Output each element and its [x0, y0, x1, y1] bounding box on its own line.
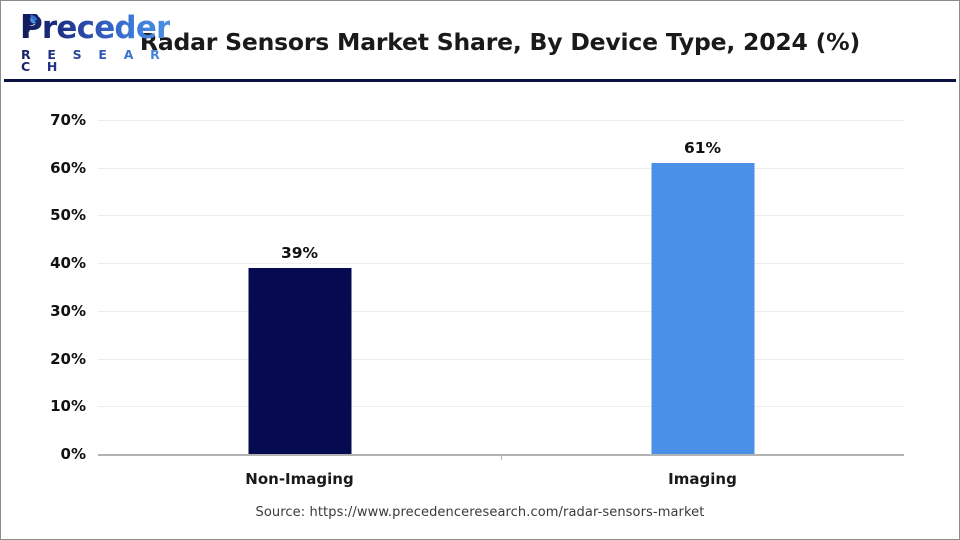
- category-label-non-imaging: Non-Imaging: [245, 470, 353, 488]
- bar-series: 39% Non-Imaging 61% Imaging: [98, 120, 904, 454]
- ytick-label-0: 0%: [61, 445, 86, 463]
- category-label-imaging: Imaging: [668, 470, 737, 488]
- bar-non-imaging[interactable]: 39%: [248, 268, 351, 454]
- ytick-label-50: 50%: [50, 206, 86, 224]
- plot-region: 70% 60% 50% 40% 30% 20% 10%: [98, 120, 904, 454]
- source-caption: Source: https://www.precedenceresearch.c…: [4, 505, 956, 520]
- bar-value-non-imaging: 39%: [281, 244, 318, 262]
- ytick-label-70: 70%: [50, 111, 86, 129]
- ytick-label-40: 40%: [50, 254, 86, 272]
- inner-frame: Precedence R E S E A R C H Radar Sensors…: [4, 4, 956, 536]
- axis-baseline: 0%: [98, 454, 904, 456]
- brand-tagline: R E S E A R C H: [18, 49, 170, 74]
- ytick-label-30: 30%: [50, 302, 86, 320]
- brand-name: Precedence: [18, 13, 170, 44]
- ytick-label-10: 10%: [50, 397, 86, 415]
- brand-logo: Precedence R E S E A R C H: [18, 18, 170, 68]
- infographic-card: Precedence R E S E A R C H Radar Sensors…: [0, 0, 960, 540]
- chart-area: 70% 60% 50% 40% 30% 20% 10%: [4, 82, 956, 536]
- bar-imaging[interactable]: 61%: [651, 163, 754, 454]
- bar-value-imaging: 61%: [684, 139, 721, 157]
- ytick-label-60: 60%: [50, 159, 86, 177]
- header-bar: Precedence R E S E A R C H Radar Sensors…: [4, 4, 956, 82]
- bar-slot-non-imaging: 39% Non-Imaging: [98, 120, 501, 454]
- ytick-label-20: 20%: [50, 350, 86, 368]
- bar-slot-imaging: 61% Imaging: [501, 120, 904, 454]
- leaf-mark-icon: [22, 13, 39, 32]
